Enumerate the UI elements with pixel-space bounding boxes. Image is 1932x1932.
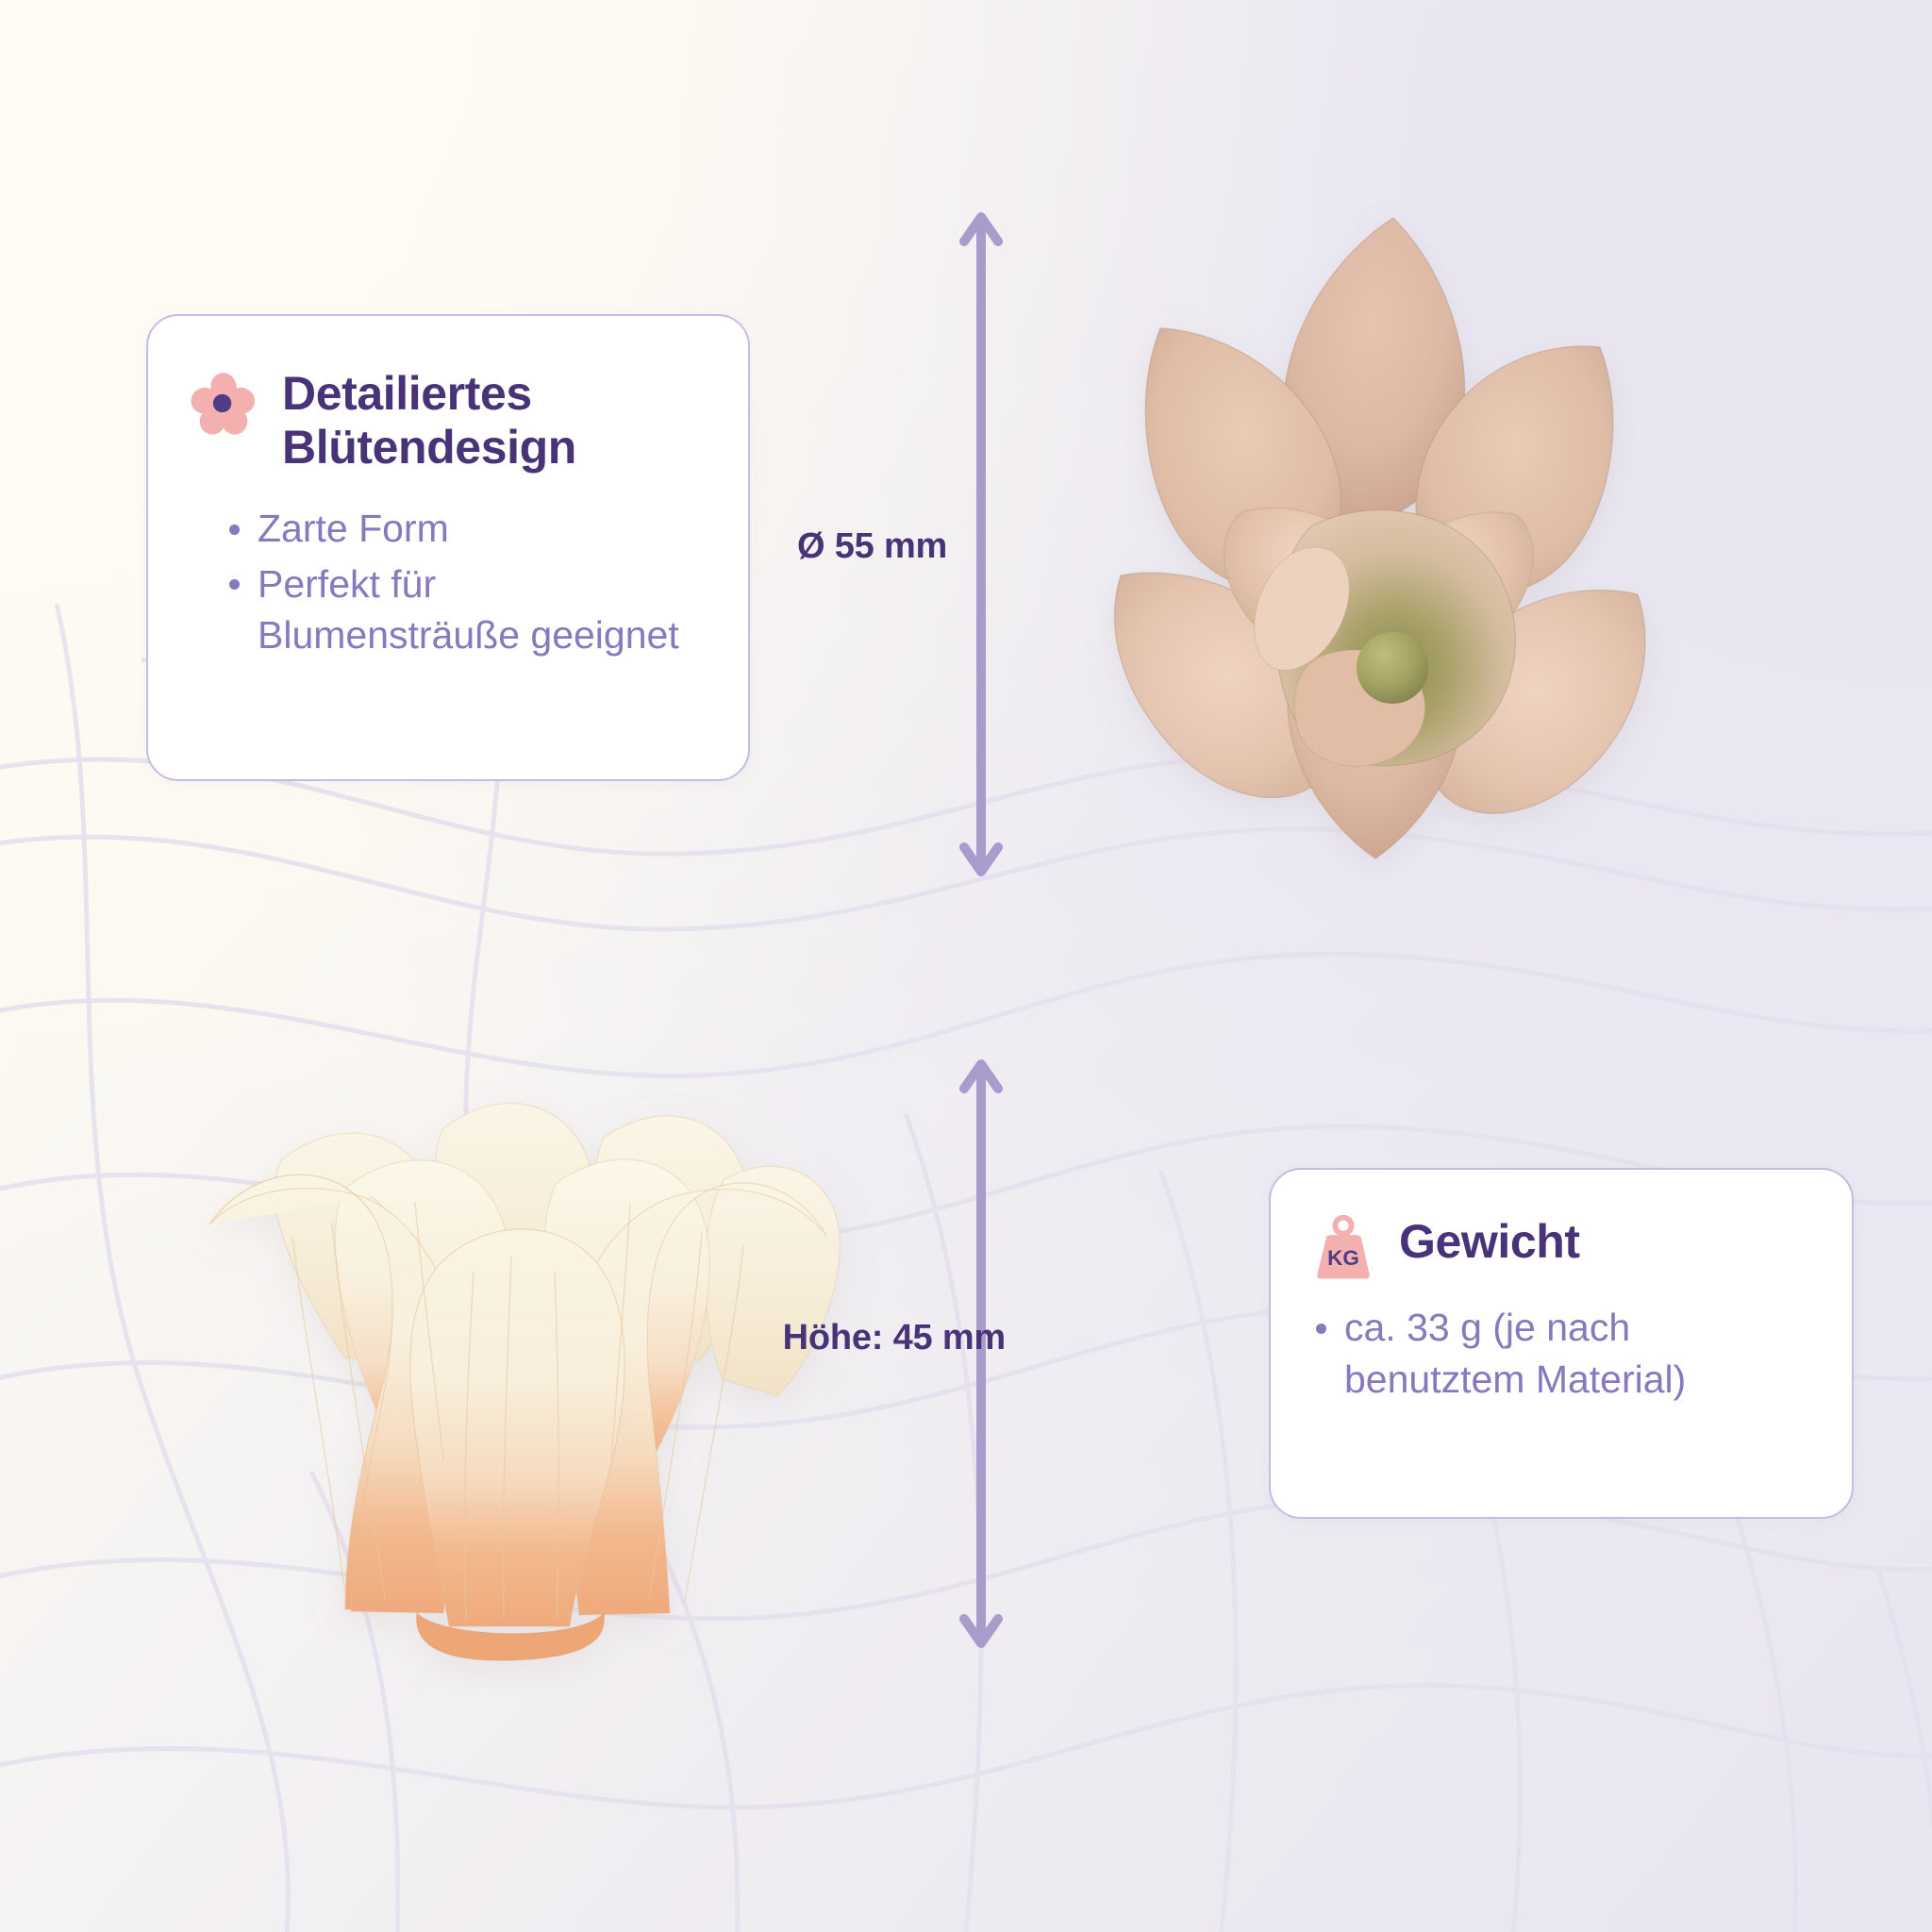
card-weight-header: KG Gewicht: [1312, 1213, 1810, 1281]
list-item-label: ca. 33 g (je nach benutztem Material): [1344, 1306, 1686, 1401]
kg-icon-label: KG: [1327, 1246, 1359, 1270]
list-item: Zarte Form: [258, 503, 707, 555]
height-label: Höhe: 45 mm: [783, 1318, 1006, 1358]
flower-icon: [190, 371, 258, 439]
card-design: Detailiertes Blütendesign Zarte Form Per…: [146, 314, 750, 781]
bullet-dot: [229, 525, 240, 535]
product-infographic: Detailiertes Blütendesign Zarte Form Per…: [0, 0, 1932, 1932]
list-item-label: Perfekt für Blumensträuße geeignet: [258, 562, 679, 658]
card-design-header: Detailiertes Blütendesign: [190, 365, 707, 475]
bullet-dot: [1316, 1324, 1326, 1334]
card-design-title: Detailiertes Blütendesign: [282, 365, 707, 475]
card-weight-title: Gewicht: [1399, 1213, 1580, 1269]
soap-flower-top-view-photo: [1038, 198, 1717, 896]
card-weight-bullets: ca. 33 g (je nach benutztem Material): [1312, 1302, 1810, 1405]
card-design-bullets: Zarte Form Perfekt für Blumensträuße gee…: [190, 503, 707, 661]
bullet-dot: [229, 579, 240, 590]
kg-weight-icon: KG: [1312, 1215, 1374, 1281]
diameter-dimension-arrow: [955, 209, 1008, 879]
list-item-label: Zarte Form: [258, 507, 449, 550]
card-weight: KG Gewicht ca. 33 g (je nach benutztem M…: [1269, 1168, 1854, 1519]
diameter-label: Ø 55 mm: [797, 526, 947, 567]
soap-flower-side-view-photo: [160, 1047, 877, 1689]
list-item: ca. 33 g (je nach benutztem Material): [1344, 1302, 1810, 1405]
list-item: Perfekt für Blumensträuße geeignet: [258, 558, 707, 661]
